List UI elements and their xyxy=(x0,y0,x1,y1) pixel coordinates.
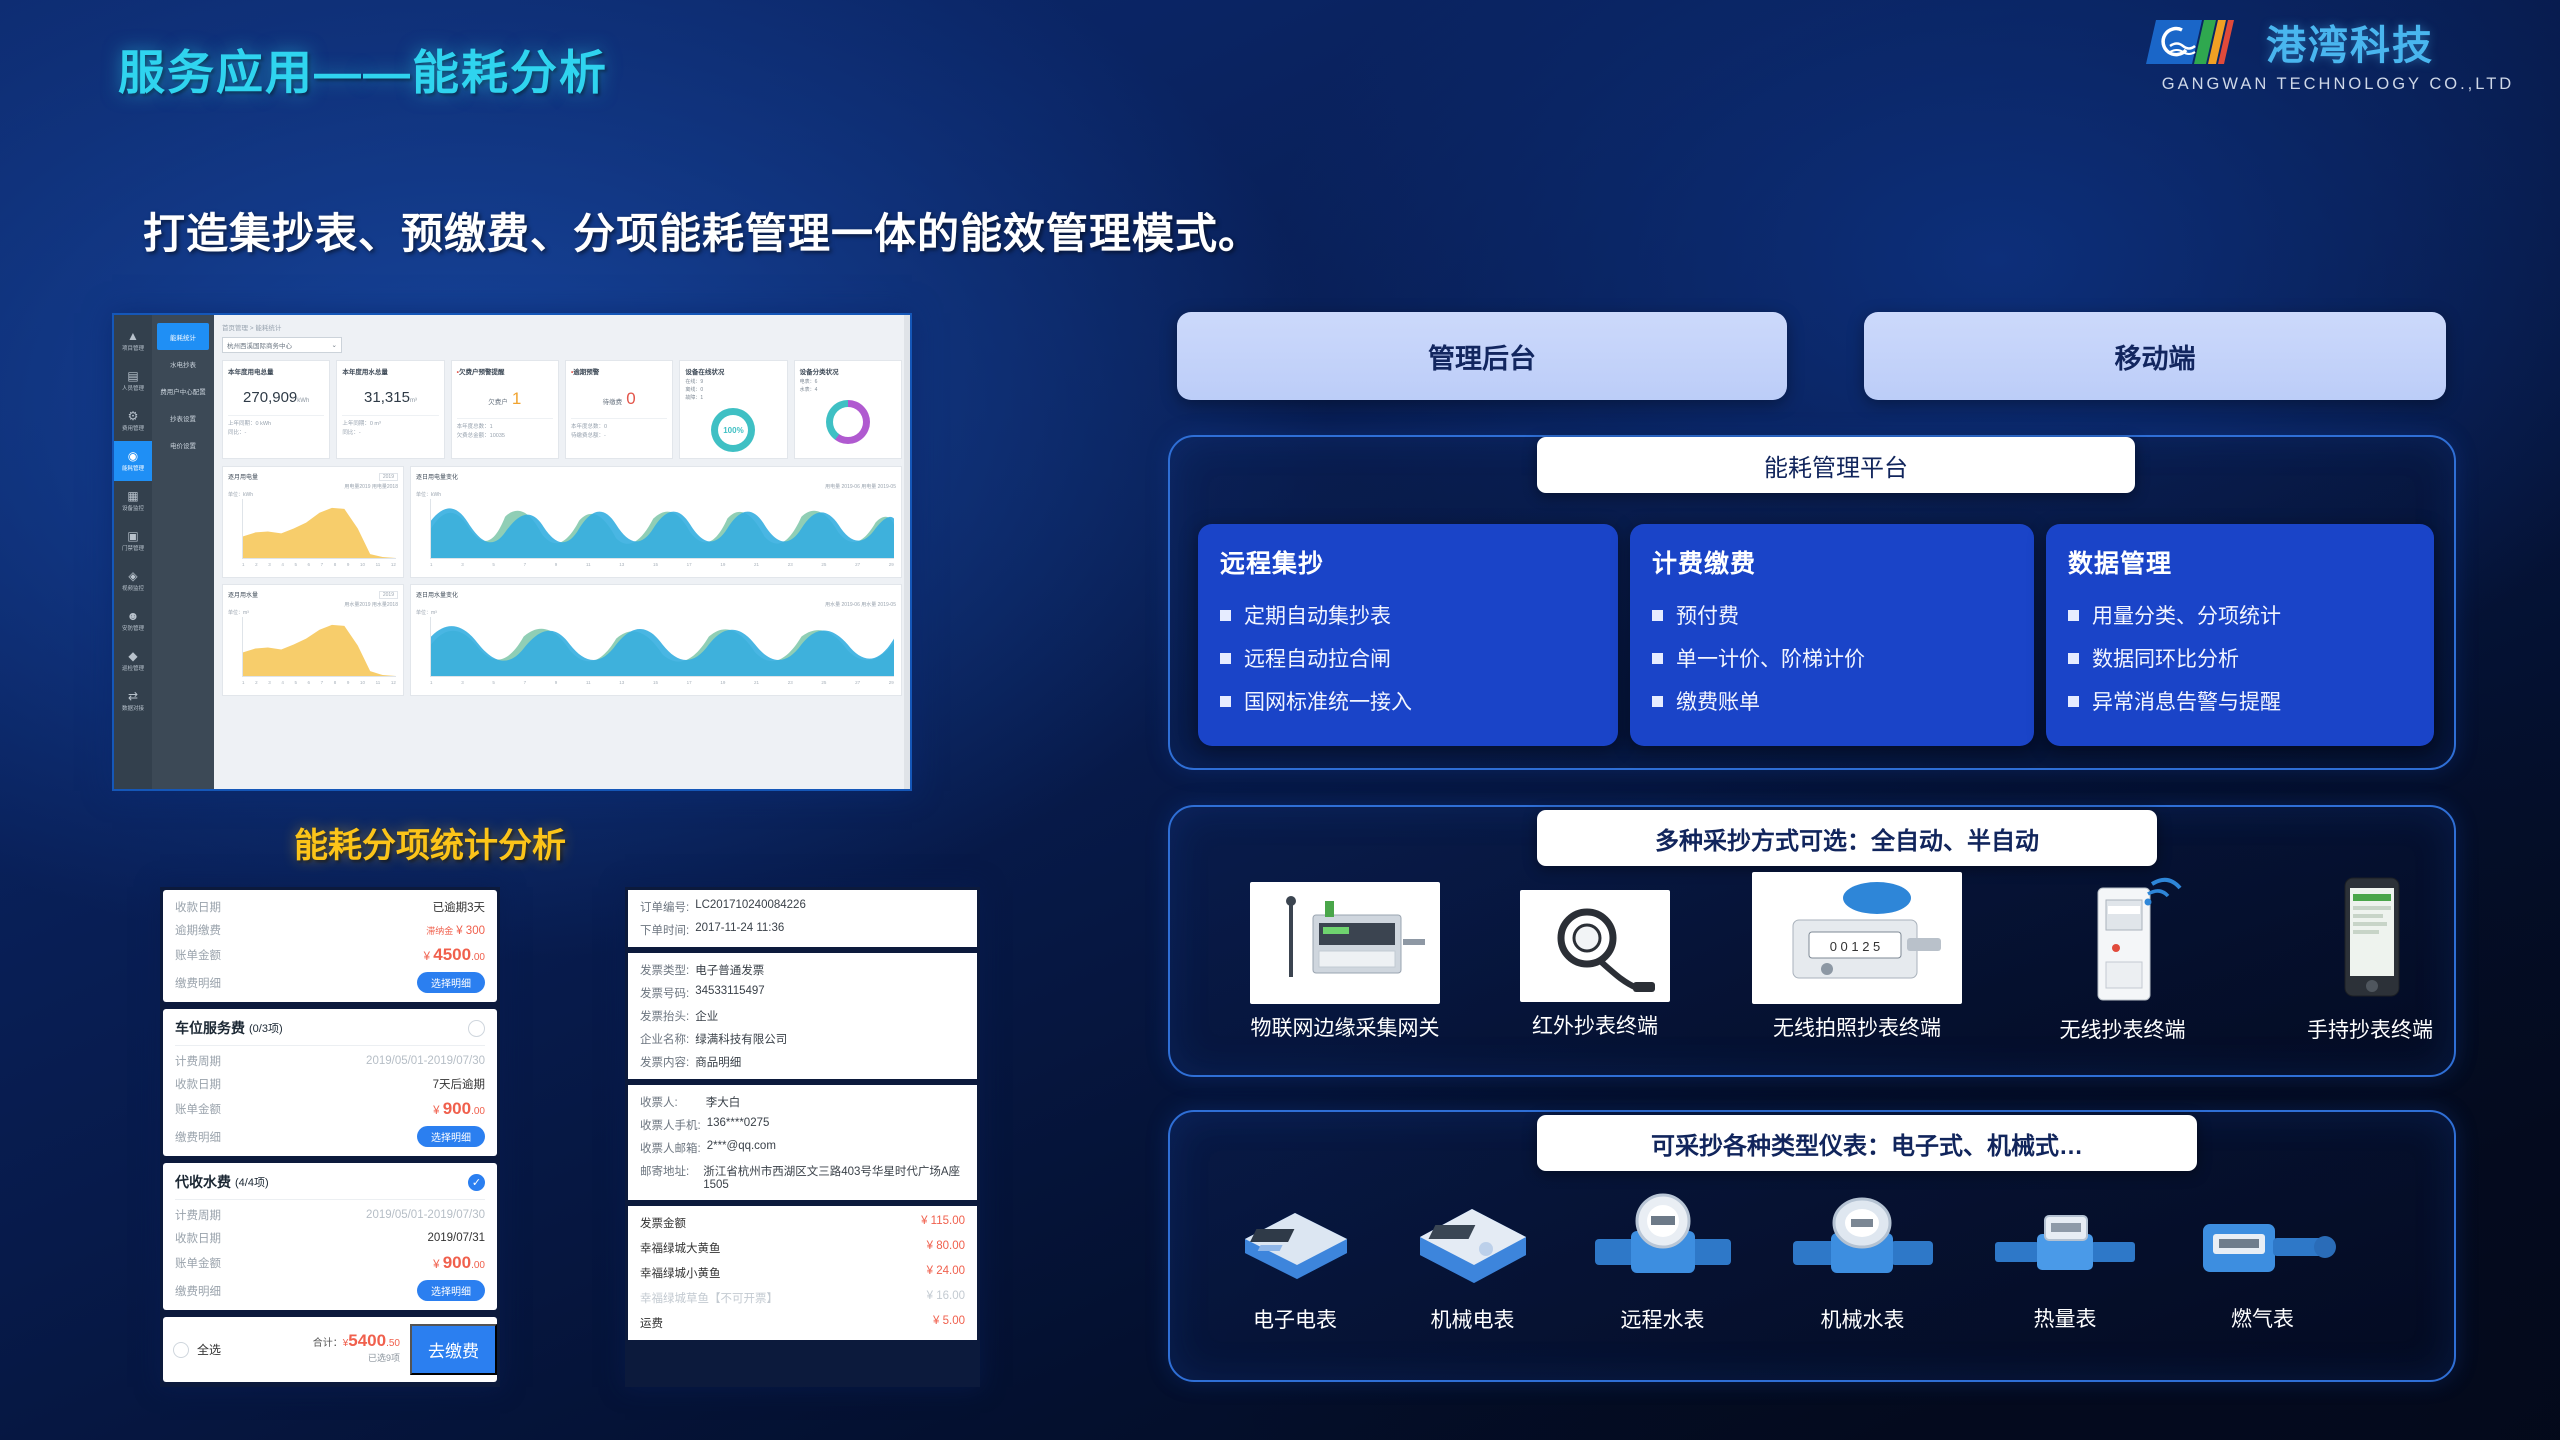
kpi-foot: 欠费总金额：10035 xyxy=(457,432,553,441)
meter-mechanical-electricity: 机械电表 xyxy=(1390,1195,1555,1334)
bill-card-checkbox[interactable] xyxy=(468,1020,485,1037)
project-icon: ▲ xyxy=(127,330,139,342)
bill-app-screenshot: 收款日期已逾期3天 逾期缴费滞纳金¥ 300 账单金额¥ 4500.00 缴费明… xyxy=(160,887,500,1387)
chart-legend: 用电量 2019-06 用电量 2019-05 xyxy=(416,483,896,490)
gear-icon: ⚙ xyxy=(128,410,139,422)
feature-item: 数据同环比分析 xyxy=(2092,643,2239,673)
invoice-value: LC201710240084226 xyxy=(695,899,806,915)
invoice-value: 34533115497 xyxy=(695,985,765,1001)
invoice-label: 发票抬头: xyxy=(640,1008,689,1024)
feature-title: 计费缴费 xyxy=(1652,544,2012,580)
sidebar-item-7[interactable]: ☻安防管理 xyxy=(114,601,152,641)
bill-card: 车位服务费(0/3项) 计费周期2019/05/01-2019/07/30 收款… xyxy=(163,1009,497,1156)
camera-meter-icon: 0 0 1 2 5 xyxy=(1752,872,1962,1004)
sidebar-item-5[interactable]: ▣门禁管理 xyxy=(114,521,152,561)
amount-value: ¥ 5.00 xyxy=(933,1315,965,1331)
page-title: 服务应用——能耗分析 xyxy=(118,34,608,103)
chart-unit: 单位：m³ xyxy=(228,609,249,616)
amount-label: 发票金额 xyxy=(640,1215,686,1231)
meter-label: 远程水表 xyxy=(1575,1304,1750,1334)
total-label: 合计： xyxy=(313,1338,343,1349)
chart-title: 逐日用电量变化 xyxy=(416,472,458,481)
sidebar-item-2[interactable]: ⚙费用管理 xyxy=(114,401,152,441)
invoice-value: 136****0275 xyxy=(707,1117,770,1133)
feature-item: 预付费 xyxy=(1676,600,1739,630)
sidebar-item-1[interactable]: ▤人员管理 xyxy=(114,361,152,401)
kpi-legend-item: 电表：6 xyxy=(800,378,896,386)
chart-x-labels: 1357911131517192123252729 xyxy=(430,680,894,685)
kpi-foot: 本年度总数：0 xyxy=(571,423,667,432)
bill-label: 账单金额 xyxy=(175,1101,221,1117)
submenu-item-3[interactable]: 抄表设置 xyxy=(152,404,214,431)
bill-amount-cents: .00 xyxy=(471,1260,485,1271)
remote-water-meter-icon xyxy=(1575,1185,1750,1291)
heat-meter-icon xyxy=(1985,1190,2145,1290)
meter-heat: 热量表 xyxy=(1985,1190,2145,1333)
bill-card: 收款日期已逾期3天 逾期缴费滞纳金¥ 300 账单金额¥ 4500.00 缴费明… xyxy=(163,890,497,1002)
kpi-foot: 同比：- xyxy=(342,429,438,438)
feature-item: 缴费账单 xyxy=(1676,686,1760,716)
logo-english-name: GANGWAN TECHNOLOGY CO.,LTD xyxy=(2144,75,2532,94)
donut-value: 100% xyxy=(723,426,743,435)
mechanical-electricity-meter-icon xyxy=(1390,1195,1555,1291)
kpi-value: 0 xyxy=(626,389,635,408)
divider xyxy=(175,1045,485,1046)
invoice-value: 2***@qq.com xyxy=(707,1140,776,1156)
bill-label: 账单金额 xyxy=(175,1255,221,1271)
amount-label: 幸福绿城草鱼【不可开票】 xyxy=(640,1290,778,1306)
bill-label: 账单金额 xyxy=(175,947,221,963)
feature-item: 异常消息告警与提醒 xyxy=(2092,686,2281,716)
bill-label: 收款日期 xyxy=(175,1230,221,1246)
meter-remote-water: 远程水表 xyxy=(1575,1185,1750,1334)
invoice-receiver-card: 收票人:李大白 收票人手机:136****0275 收票人邮箱:2***@qq.… xyxy=(628,1085,977,1200)
camera-icon: ◆ xyxy=(128,650,137,662)
bullet-icon xyxy=(1652,610,1663,621)
bill-label: 逾期缴费 xyxy=(175,922,221,938)
kpi-label: 待缴费 xyxy=(603,399,623,406)
infrared-probe-icon xyxy=(1520,890,1670,1002)
bill-card-title: 代收水费 xyxy=(175,1172,231,1192)
kpi-legend-item: 水表：4 xyxy=(800,386,896,394)
door-icon: ▣ xyxy=(127,530,138,542)
logo-mark-icon xyxy=(2144,16,2256,68)
device-label: 无线抄表终端 xyxy=(2045,1014,2200,1044)
invoice-label: 邮寄地址: xyxy=(640,1163,689,1191)
invoice-value: 商品明细 xyxy=(695,1054,741,1070)
kpi-card: •欠费户预警提醒 欠费户 1 本年度总数：1欠费总金额：10035 xyxy=(451,360,559,459)
monitor-icon: ▦ xyxy=(127,490,138,502)
breadcrumb: 首页管理 > 能耗统计 xyxy=(222,322,902,332)
device-label: 红外抄表终端 xyxy=(1520,1010,1670,1040)
kpi-foot: 本年度总数：1 xyxy=(457,423,553,432)
kpi-unit: kWh xyxy=(297,398,309,404)
invoice-label: 发票类型: xyxy=(640,962,689,978)
shield-icon: ☻ xyxy=(127,610,140,622)
select-detail-button[interactable]: 选择明细 xyxy=(417,1280,485,1301)
bill-label: 收款日期 xyxy=(175,899,221,915)
invoice-value: 企业 xyxy=(695,1008,718,1024)
bill-label: 缴费明细 xyxy=(175,1129,221,1145)
gateway-icon xyxy=(1250,882,1440,1004)
gas-meter-icon xyxy=(2175,1190,2350,1290)
feature-item: 用量分类、分项统计 xyxy=(2092,600,2281,630)
invoice-label: 订单编号: xyxy=(640,899,689,915)
mechanical-water-meter-icon xyxy=(1775,1185,1950,1291)
chart-x-labels: 123456789101112 xyxy=(242,680,396,685)
svg-text:0 0 1 2 5: 0 0 1 2 5 xyxy=(1830,939,1881,954)
invoice-value: 2017-11-24 11:36 xyxy=(695,922,784,938)
feature-card-remote-collection: 远程集抄 定期自动集抄表 远程自动拉合闸 国网标准统一接入 xyxy=(1198,524,1618,746)
chart-axes xyxy=(242,617,396,677)
chart-title: 逐月用水量 xyxy=(228,590,258,599)
submenu-item-2[interactable]: 费用户中心配置 xyxy=(152,377,214,404)
kpi-unit: m³ xyxy=(410,398,417,404)
device-label: 手持抄表终端 xyxy=(2290,1014,2450,1044)
company-logo: 港湾科技 GANGWAN TECHNOLOGY CO.,LTD xyxy=(2144,14,2532,96)
kpi-title: 设备分类状况 xyxy=(800,366,896,376)
chart-row: 逐月用电量2019 用电量2019 用电量2018 单位：kWh 1234567… xyxy=(222,466,902,578)
late-fee-tag: 滞纳金 xyxy=(426,926,453,936)
bill-label: 收款日期 xyxy=(175,1076,221,1092)
kpi-foot: 待缴费总额：- xyxy=(571,432,667,441)
invoice-detail-card: 发票类型:电子普通发票 发票号码:34533115497 发票抬头:企业 企业名… xyxy=(628,953,977,1079)
invoice-order-card: 订单编号:LC201710240084226 下单时间:2017-11-24 1… xyxy=(628,890,977,947)
bill-label: 计费周期 xyxy=(175,1207,221,1223)
device-infrared: 红外抄表终端 xyxy=(1520,890,1670,1040)
select-all-label: 全选 xyxy=(197,1341,221,1358)
device-wireless-terminal: 无线抄表终端 xyxy=(2045,868,2200,1044)
invoice-app-screenshot: 订单编号:LC201710240084226 下单时间:2017-11-24 1… xyxy=(625,887,980,1387)
page-subtitle: 打造集抄表、预缴费、分项能耗管理一体的能效管理模式。 xyxy=(143,200,1261,261)
collection-methods-pill: 多种采抄方式可选：全自动、半自动 xyxy=(1537,810,2157,866)
platform-title-pill: 能耗管理平台 xyxy=(1537,437,2135,493)
bullet-icon xyxy=(2068,653,2079,664)
sidebar-item-3[interactable]: ◉能耗管理 xyxy=(114,441,152,481)
bill-value: ¥ 300 xyxy=(456,925,485,937)
kpi-value: 270,909 xyxy=(243,389,297,406)
chart-legend: 用水量 2019-06 用水量 2019-05 xyxy=(416,601,896,608)
mobile-client-button[interactable]: 移动端 xyxy=(1864,312,2446,400)
meter-types-pill: 可采抄各种类型仪表：电子式、机械式… xyxy=(1537,1115,2197,1171)
amount-label: 幸福绿城小黄鱼 xyxy=(640,1265,721,1281)
scrollbar[interactable] xyxy=(904,315,910,789)
kpi-title: 设备在线状况 xyxy=(685,366,781,376)
meter-mechanical-water: 机械水表 xyxy=(1775,1185,1950,1334)
meter-label: 热量表 xyxy=(1985,1303,2145,1333)
kpi-legend-item: 故障：1 xyxy=(685,394,781,402)
kpi-card: 设备在线状况 在线：9离线：0故障：1 100% xyxy=(679,360,787,459)
kpi-foot: 上年同期：0 kWh xyxy=(228,420,324,429)
invoice-label: 发票内容: xyxy=(640,1054,689,1070)
chart-card-monthly-electricity: 逐月用电量2019 用电量2019 用电量2018 单位：kWh 1234567… xyxy=(222,466,404,578)
selected-count: 已选9项 xyxy=(313,1351,400,1365)
bill-amount: 900 xyxy=(443,1099,471,1118)
bill-label: 缴费明细 xyxy=(175,975,221,991)
amount-value: ¥ 16.00 xyxy=(927,1290,965,1306)
chart-title: 逐日用水量变化 xyxy=(416,590,458,599)
meter-label: 燃气表 xyxy=(2175,1303,2350,1333)
bill-label: 缴费明细 xyxy=(175,1283,221,1299)
invoice-label: 收票人: xyxy=(640,1094,678,1110)
kpi-card: 本年度用电总量 270,909kWh 上年同期：0 kWh同比：- xyxy=(222,360,330,459)
kpi-foot: 同比：- xyxy=(228,429,324,438)
chart-legend: 用水量2019 用水量2018 xyxy=(228,601,398,608)
feature-card-data-management: 数据管理 用量分类、分项统计 数据同环比分析 异常消息告警与提醒 xyxy=(2046,524,2434,746)
invoice-amount-card: 发票金额¥ 115.00 幸福绿城大黄鱼¥ 80.00 幸福绿城小黄鱼¥ 24.… xyxy=(628,1206,977,1340)
invoice-value: 绿满科技有限公司 xyxy=(695,1031,787,1047)
kpi-label: 欠费户 xyxy=(488,399,508,406)
device-camera-meter: 0 0 1 2 5 无线拍照抄表终端 xyxy=(1752,872,1962,1042)
submenu-item-1[interactable]: 水电抄表 xyxy=(152,350,214,377)
feature-item: 远程自动拉合闸 xyxy=(1244,643,1391,673)
chart-card-monthly-water: 逐月用水量2019 用水量2019 用水量2018 单位：m³ 12345678… xyxy=(222,584,404,696)
bill-amount-cents: .00 xyxy=(471,952,485,963)
bill-value: 2019/07/31 xyxy=(427,1232,485,1244)
amount-value: ¥ 115.00 xyxy=(921,1215,965,1231)
amount-value: ¥ 80.00 xyxy=(927,1240,965,1256)
meter-gas: 燃气表 xyxy=(2175,1190,2350,1333)
chart-legend: 用电量2019 用电量2018 xyxy=(228,483,398,490)
meter-label: 机械水表 xyxy=(1775,1304,1950,1334)
submenu-item-4[interactable]: 电价设置 xyxy=(152,431,214,458)
amount-label: 运费 xyxy=(640,1315,663,1331)
kpi-foot: 上年同期：0 m³ xyxy=(342,420,438,429)
droplet-icon: ◉ xyxy=(128,450,138,462)
chevron-down-icon: ⌄ xyxy=(332,341,337,349)
feature-item: 定期自动集抄表 xyxy=(1244,600,1391,630)
section-title: 能耗分项统计分析 xyxy=(294,818,566,867)
feature-title: 数据管理 xyxy=(2068,544,2412,580)
total-cents: .50 xyxy=(386,1338,400,1349)
kpi-legend-item: 在线：9 xyxy=(685,378,781,386)
kpi-card: 设备分类状况 电表：6水表：4 xyxy=(794,360,902,459)
kpi-card: •逾期预警 待缴费 0 本年度总数：0待缴费总额：- xyxy=(565,360,673,459)
meter-electronic-electricity: 电子电表 xyxy=(1215,1195,1375,1334)
invoice-label: 收票人手机: xyxy=(640,1117,701,1133)
chart-year-tag[interactable]: 2019 xyxy=(379,473,398,481)
chart-axes xyxy=(430,499,894,559)
people-icon: ▤ xyxy=(127,370,138,382)
sidebar-item-0[interactable]: ▲项目管理 xyxy=(114,321,152,361)
chart-unit: 单位：m³ xyxy=(416,609,437,616)
meter-label: 机械电表 xyxy=(1390,1304,1555,1334)
kpi-title: •欠费户预警提醒 xyxy=(457,366,553,376)
device-label: 物联网边缘采集网关 xyxy=(1250,1012,1440,1042)
bullet-icon xyxy=(1220,610,1231,621)
invoice-label: 企业名称: xyxy=(640,1031,689,1047)
chart-axes xyxy=(242,499,396,559)
kpi-row: 本年度用电总量 270,909kWh 上年同期：0 kWh同比：- 本年度用水总… xyxy=(222,360,902,459)
bill-card-title: 车位服务费 xyxy=(175,1018,245,1038)
bullet-icon xyxy=(1220,653,1231,664)
chart-card-daily-water: 逐日用水量变化 用水量 2019-06 用水量 2019-05 单位：m³ 13… xyxy=(410,584,902,696)
bill-value: 2019/05/01-2019/07/30 xyxy=(366,1055,485,1067)
project-select[interactable]: 杭州西溪国际商务中心 ⌄ xyxy=(222,337,342,353)
submenu-item-0[interactable]: 能耗统计 xyxy=(157,323,209,350)
chart-row: 逐月用水量2019 用水量2019 用水量2018 单位：m³ 12345678… xyxy=(222,584,902,696)
pay-button[interactable]: 去缴费 xyxy=(410,1324,497,1375)
bill-value: 2019/05/01-2019/07/30 xyxy=(366,1209,485,1221)
divider xyxy=(175,1199,485,1200)
amount-label: 幸福绿城大黄鱼 xyxy=(640,1240,721,1256)
bill-card-count: (0/3项) xyxy=(249,1020,283,1036)
bill-amount: 4500 xyxy=(433,945,471,964)
bullet-icon xyxy=(2068,696,2079,707)
dashboard-submenu[interactable]: 能耗统计 水电抄表 费用户中心配置 抄表设置 电价设置 xyxy=(152,315,214,789)
amount-value: ¥ 24.00 xyxy=(927,1265,965,1281)
chart-card-daily-electricity: 逐日用电量变化 用电量 2019-06 用电量 2019-05 单位：kWh 1… xyxy=(410,466,902,578)
handheld-terminal-icon xyxy=(2290,868,2450,1006)
admin-backend-button[interactable]: 管理后台 xyxy=(1177,312,1787,400)
bullet-icon xyxy=(1220,696,1231,707)
chart-x-labels: 123456789101112 xyxy=(242,562,396,567)
kpi-value: 31,315 xyxy=(364,389,410,406)
bill-label: 计费周期 xyxy=(175,1053,221,1069)
chart-year-tag[interactable]: 2019 xyxy=(379,591,398,599)
bill-amount-cents: .00 xyxy=(471,1106,485,1117)
dashboard-content: 首页管理 > 能耗统计 杭州西溪国际商务中心 ⌄ 本年度用电总量 270,909… xyxy=(214,315,910,789)
kpi-legend-item: 离线：0 xyxy=(685,386,781,394)
wireless-terminal-icon xyxy=(2045,868,2200,1006)
invoice-value: 浙江省杭州市西湖区文三路403号华星时代广场A座1505 xyxy=(703,1163,965,1191)
electronic-electricity-meter-icon xyxy=(1215,1195,1375,1291)
dashboard-screenshot: ▲项目管理 ▤人员管理 ⚙费用管理 ◉能耗管理 ▦设备监控 ▣门禁管理 ◈视频监… xyxy=(112,313,912,791)
bill-value: 已逾期3天 xyxy=(433,899,485,915)
chart-unit: 单位：kWh xyxy=(228,491,253,498)
chart-x-labels: 1357911131517192123252729 xyxy=(430,562,894,567)
video-icon: ◈ xyxy=(128,570,137,582)
kpi-card: 本年度用水总量 31,315m³ 上年同期：0 m³同比：- xyxy=(336,360,444,459)
device-gateway: 物联网边缘采集网关 xyxy=(1250,882,1440,1042)
invoice-value: 电子普通发票 xyxy=(695,962,764,978)
bullet-icon xyxy=(1652,653,1663,664)
bill-amount: 900 xyxy=(443,1253,471,1272)
device-handheld-terminal: 手持抄表终端 xyxy=(2290,868,2450,1044)
kpi-value: 1 xyxy=(512,389,521,408)
feature-item: 国网标准统一接入 xyxy=(1244,686,1412,716)
sidebar-item-6[interactable]: ◈视频监控 xyxy=(114,561,152,601)
bill-card-count: (4/4项) xyxy=(235,1174,269,1190)
bill-footer: 全选 合计：¥5400.50 已选9项 去缴费 xyxy=(163,1317,497,1382)
device-label: 无线拍照抄表终端 xyxy=(1752,1012,1962,1042)
chart-title: 逐月用电量 xyxy=(228,472,258,481)
sidebar-item-4[interactable]: ▦设备监控 xyxy=(114,481,152,521)
feature-card-billing-payment: 计费缴费 预付费 单一计价、阶梯计价 缴费账单 xyxy=(1630,524,2034,746)
sidebar-item-8[interactable]: ◆巡检管理 xyxy=(114,641,152,681)
invoice-value: 李大白 xyxy=(706,1094,741,1110)
logo-chinese-name: 港湾科技 xyxy=(2266,13,2434,71)
sync-icon: ⇄ xyxy=(128,690,138,702)
select-all-checkbox[interactable] xyxy=(173,1342,189,1358)
kpi-title: •逾期预警 xyxy=(571,366,667,376)
kpi-title: 本年度用电总量 xyxy=(228,366,324,376)
bill-card-checkbox-checked[interactable]: ✓ xyxy=(468,1174,485,1191)
kpi-title: 本年度用水总量 xyxy=(342,366,438,376)
meter-label: 电子电表 xyxy=(1215,1304,1375,1334)
invoice-label: 发票号码: xyxy=(640,985,689,1001)
invoice-label: 下单时间: xyxy=(640,922,689,938)
feature-title: 远程集抄 xyxy=(1220,544,1596,580)
chart-axes xyxy=(430,617,894,677)
device-type-donut xyxy=(826,400,870,444)
dashboard-sidebar[interactable]: ▲项目管理 ▤人员管理 ⚙费用管理 ◉能耗管理 ▦设备监控 ▣门禁管理 ◈视频监… xyxy=(114,315,152,789)
invoice-label: 收票人邮箱: xyxy=(640,1140,701,1156)
select-detail-button[interactable]: 选择明细 xyxy=(417,972,485,993)
project-select-value: 杭州西溪国际商务中心 xyxy=(227,340,292,350)
total-value: 5400 xyxy=(348,1331,386,1350)
online-ratio-donut: 100% xyxy=(711,408,755,452)
bill-card: 代收水费(4/4项)✓ 计费周期2019/05/01-2019/07/30 收款… xyxy=(163,1163,497,1310)
feature-item: 单一计价、阶梯计价 xyxy=(1676,643,1865,673)
select-detail-button[interactable]: 选择明细 xyxy=(417,1126,485,1147)
bullet-icon xyxy=(2068,610,2079,621)
bill-value: 7天后逾期 xyxy=(433,1076,485,1092)
sidebar-item-9[interactable]: ⇄数据对接 xyxy=(114,681,152,721)
bullet-icon xyxy=(1652,696,1663,707)
chart-unit: 单位：kWh xyxy=(416,491,441,498)
